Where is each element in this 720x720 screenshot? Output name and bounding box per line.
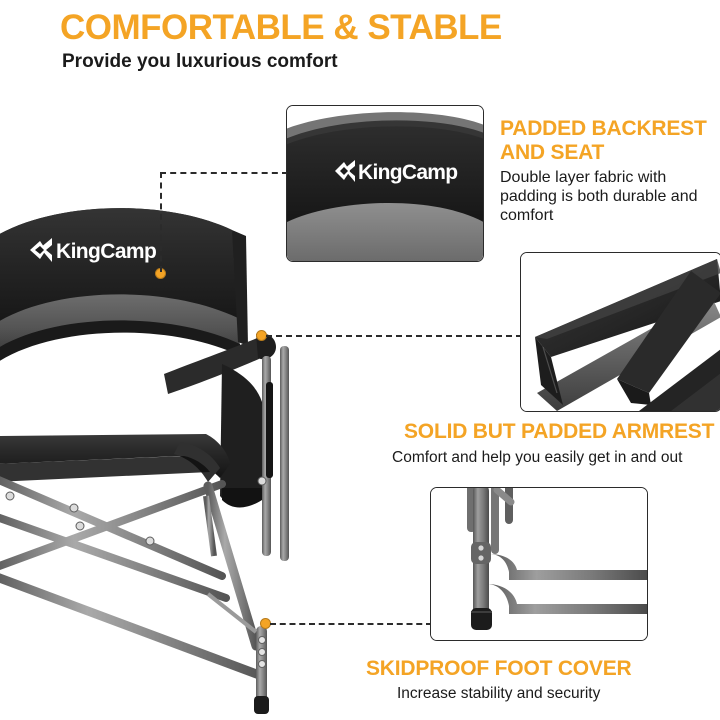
inset-padded-armrest[interactable]	[520, 252, 720, 412]
svg-text:KingCamp: KingCamp	[56, 240, 156, 263]
inset-backrest-photo: KingCamp	[287, 106, 483, 261]
inset-armrest-photo	[521, 253, 720, 411]
callout-description-foot: Increase stability and security	[397, 684, 697, 703]
leader-line-armrest	[266, 335, 522, 337]
callout-description-armrest: Comfort and help you easily get in and o…	[392, 448, 720, 467]
svg-text:KingCamp: KingCamp	[358, 161, 457, 184]
inset-foot-photo	[431, 488, 647, 640]
page-subtitle: Provide you luxurious comfort	[62, 51, 338, 73]
leader-line-backrest-horizontal	[160, 172, 288, 174]
callout-description-backrest: Double layer fabric with padding is both…	[500, 168, 700, 225]
infographic-canvas: COMFORTABLE & STABLE Provide you luxurio…	[0, 0, 720, 720]
leader-line-foot	[270, 623, 432, 625]
leader-line-backrest-vertical	[160, 172, 162, 272]
callout-title-foot: SKIDPROOF FOOT COVER	[366, 657, 696, 681]
callout-title-backrest: PADDED BACKREST AND SEAT	[500, 117, 715, 165]
callout-title-armrest: SOLID BUT PADDED ARMREST	[404, 420, 720, 444]
page-title: COMFORTABLE & STABLE	[60, 8, 502, 48]
inset-padded-backrest[interactable]: KingCamp	[286, 105, 484, 262]
inset-skidproof-foot[interactable]	[430, 487, 648, 641]
